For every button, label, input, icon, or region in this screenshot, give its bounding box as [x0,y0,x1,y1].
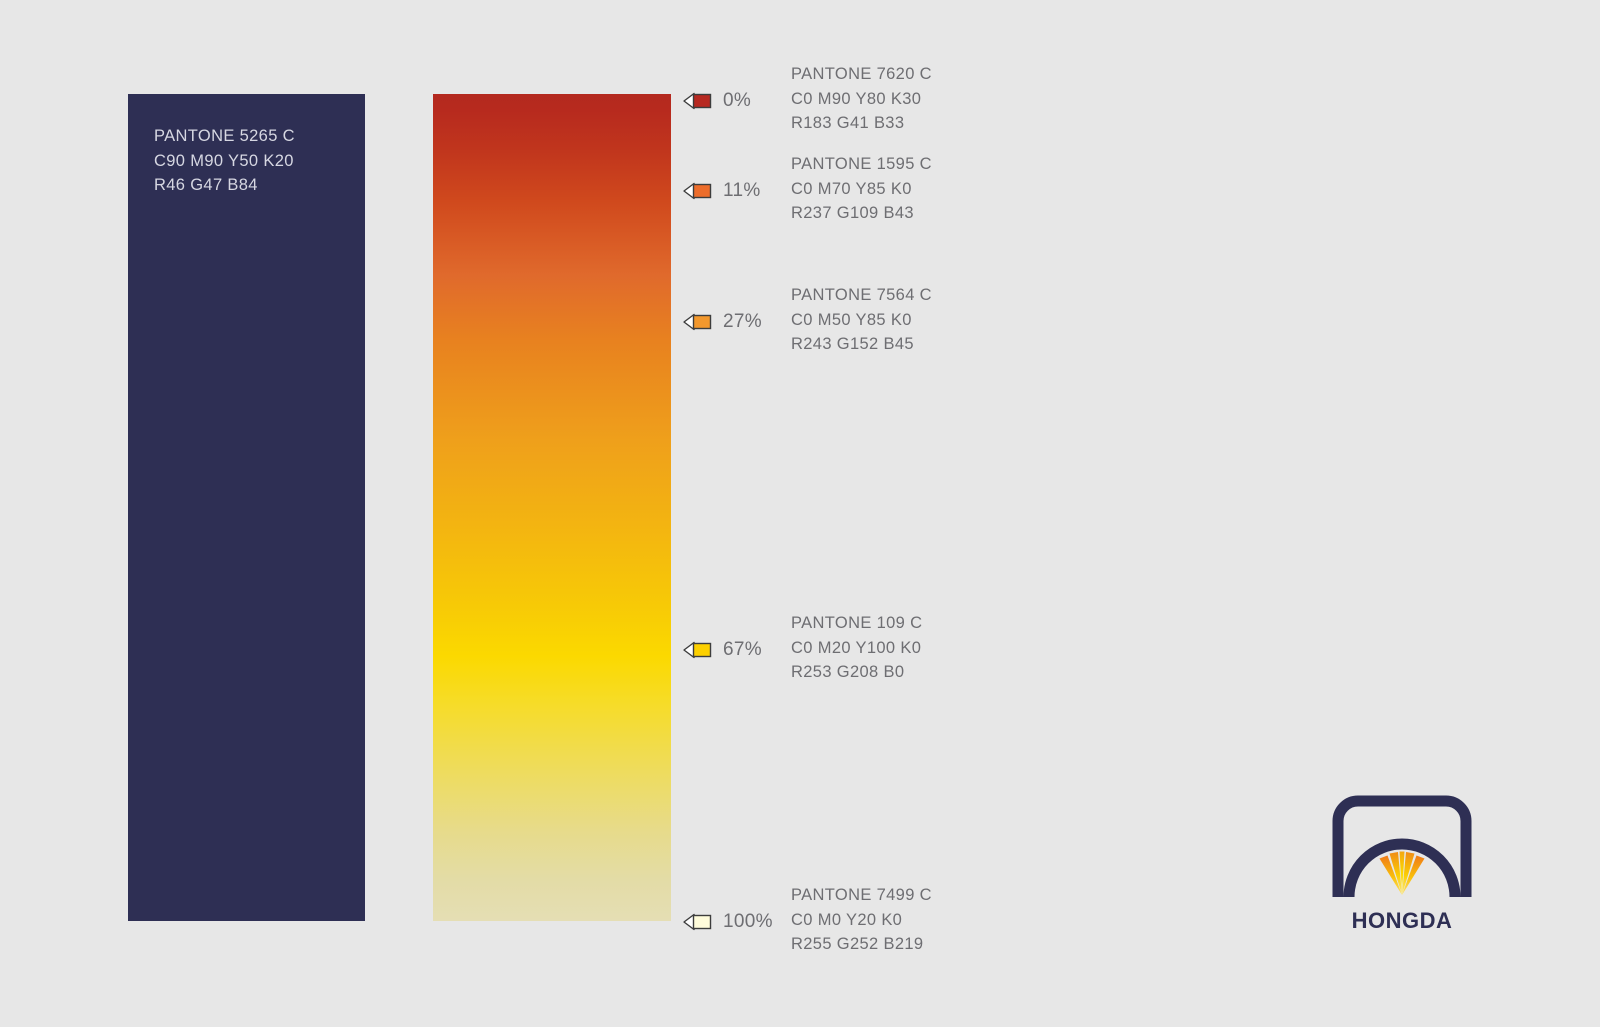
gradient-stop-marker-group: 67% [683,637,783,663]
gradient-stop-row: 11% PANTONE 1595 C C0 M70 Y85 K0 R237 G1… [683,152,932,226]
logo-sun-rays-icon [1380,852,1425,896]
gradient-stop-info: PANTONE 109 C C0 M20 Y100 K0 R253 G208 B… [791,611,922,685]
solid-swatch-rgb: R46 G47 B84 [154,173,295,198]
gradient-stop-info: PANTONE 7499 C C0 M0 Y20 K0 R255 G252 B2… [791,883,932,957]
gradient-stop-percent: 27% [723,313,762,331]
gradient-stop-info: PANTONE 7620 C C0 M90 Y80 K30 R183 G41 B… [791,62,932,136]
gradient-stop-cmyk: C0 M90 Y80 K30 [791,87,932,112]
gradient-stop-cmyk: C0 M20 Y100 K0 [791,636,922,661]
gradient-stop-pantone: PANTONE 7564 C [791,283,932,308]
solid-swatch-pantone: PANTONE 5265 C [154,124,295,149]
gradient-stop-percent: 11% [723,182,761,200]
color-chip-pointer-icon [683,182,713,200]
gradient-stop-row: 67% PANTONE 109 C C0 M20 Y100 K0 R253 G2… [683,611,922,685]
color-chip-pointer-icon [683,92,713,110]
hongda-logo: HONGDA [1332,795,1472,935]
gradient-stop-pantone: PANTONE 109 C [791,611,922,636]
solid-swatch-labels: PANTONE 5265 C C90 M90 Y50 K20 R46 G47 B… [154,124,295,198]
solid-color-swatch: PANTONE 5265 C C90 M90 Y50 K20 R46 G47 B… [128,94,365,921]
hongda-logo-mark-icon: HONGDA [1332,795,1472,935]
gradient-stop-info: PANTONE 1595 C C0 M70 Y85 K0 R237 G109 B… [791,152,932,226]
gradient-stop-cmyk: C0 M70 Y85 K0 [791,177,932,202]
color-chip-pointer-icon [683,913,713,931]
gradient-stop-rgb: R255 G252 B219 [791,932,932,957]
gradient-stop-info: PANTONE 7564 C C0 M50 Y85 K0 R243 G152 B… [791,283,932,357]
gradient-stop-marker-group: 100% [683,909,783,935]
gradient-stop-pantone: PANTONE 1595 C [791,152,932,177]
gradient-stop-rgb: R253 G208 B0 [791,660,922,685]
gradient-stop-rgb: R237 G109 B43 [791,201,932,226]
gradient-stop-row: 100% PANTONE 7499 C C0 M0 Y20 K0 R255 G2… [683,883,932,957]
logo-wordmark: HONGDA [1352,908,1453,933]
gradient-stop-percent: 67% [723,641,762,659]
gradient-stop-pantone: PANTONE 7620 C [791,62,932,87]
gradient-stop-percent: 100% [723,913,773,931]
gradient-stop-cmyk: C0 M50 Y85 K0 [791,308,932,333]
gradient-stop-rgb: R183 G41 B33 [791,111,932,136]
gradient-stop-marker-group: 27% [683,309,783,335]
solid-swatch-cmyk: C90 M90 Y50 K20 [154,149,295,174]
gradient-stop-marker-group: 11% [683,178,783,204]
gradient-stop-row: 0% PANTONE 7620 C C0 M90 Y80 K30 R183 G4… [683,62,932,136]
gradient-stop-pantone: PANTONE 7499 C [791,883,932,908]
gradient-stop-marker-group: 0% [683,88,783,114]
gradient-stop-percent: 0% [723,92,751,110]
color-chip-pointer-icon [683,641,713,659]
gradient-color-swatch [433,94,671,921]
gradient-stop-rgb: R243 G152 B45 [791,332,932,357]
gradient-stop-row: 27% PANTONE 7564 C C0 M50 Y85 K0 R243 G1… [683,283,932,357]
gradient-stop-cmyk: C0 M0 Y20 K0 [791,908,932,933]
color-chip-pointer-icon [683,313,713,331]
